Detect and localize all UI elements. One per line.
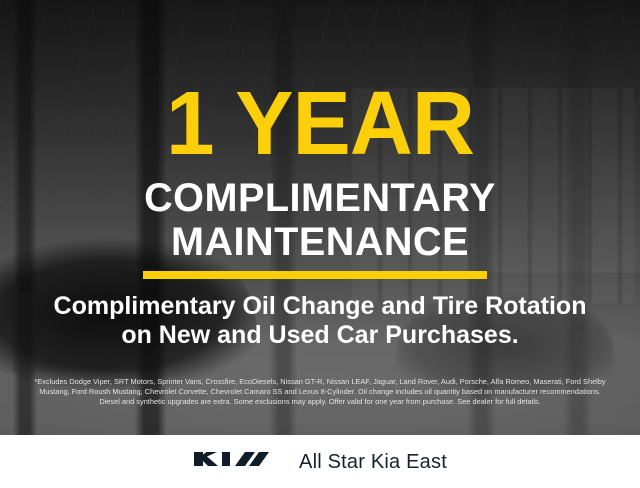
footer-brand-bar: All Star Kia East xyxy=(0,435,640,488)
offer-description-line-2: on New and Used Car Purchases. xyxy=(0,322,640,349)
disclaimer-line-3: Diesel and synthetic upgrades are extra.… xyxy=(10,397,630,407)
yellow-divider-rule xyxy=(143,271,487,279)
dealer-name: All Star Kia East xyxy=(299,452,447,472)
disclaimer-line-2: Mustang, Ford Roush Mustang, Chevrolet C… xyxy=(10,387,630,397)
disclaimer-text: *Excludes Dodge Viper, SRT Motors, Sprin… xyxy=(10,377,630,408)
headline-complimentary: COMPLIMENTARY xyxy=(3,178,637,218)
disclaimer-line-1: *Excludes Dodge Viper, SRT Motors, Sprin… xyxy=(10,377,630,387)
promotional-banner: 1 YEAR COMPLIMENTARY MAINTENANCE Complim… xyxy=(0,0,640,488)
headline-maintenance: MAINTENANCE xyxy=(3,222,637,262)
kia-logo-icon xyxy=(193,447,277,476)
offer-description-line-1: Complimentary Oil Change and Tire Rotati… xyxy=(0,293,640,320)
headline-year: 1 YEAR xyxy=(10,79,631,169)
banner-content: 1 YEAR COMPLIMENTARY MAINTENANCE Complim… xyxy=(0,0,640,435)
